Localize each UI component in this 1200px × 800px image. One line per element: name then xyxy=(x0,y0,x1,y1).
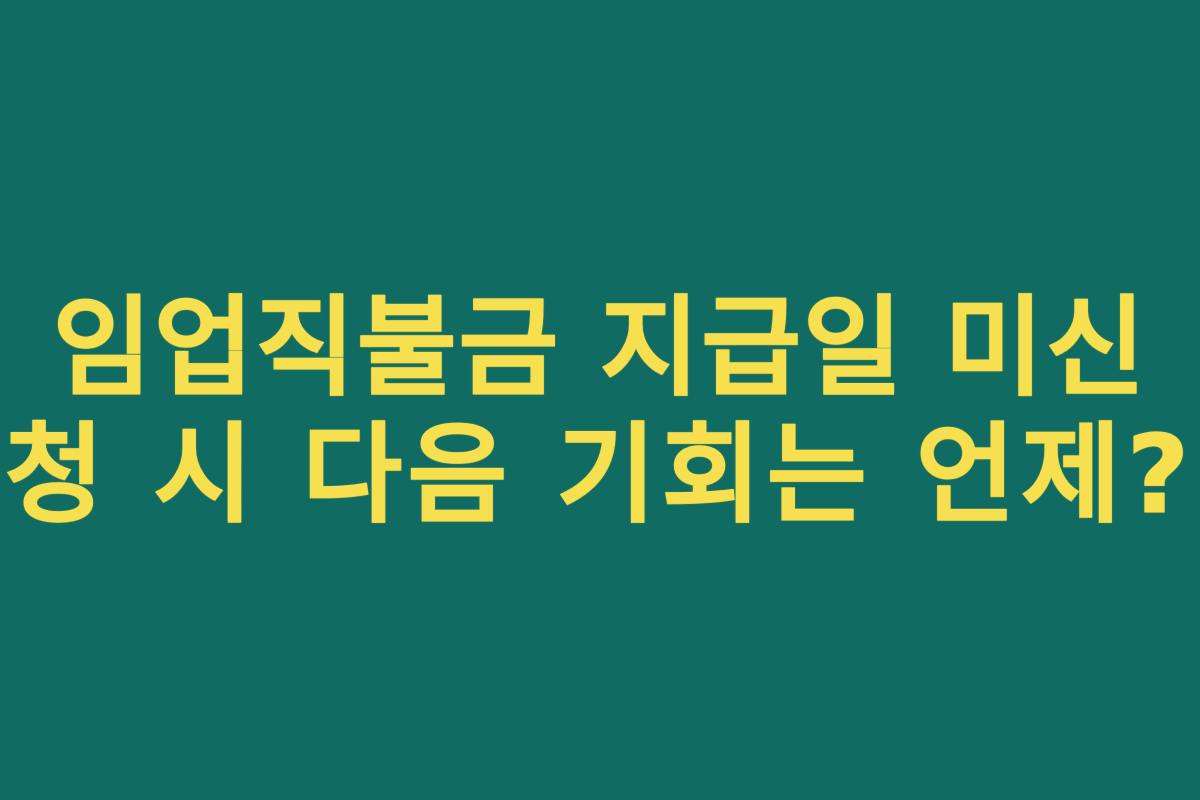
headline-line-2: 청 시 다음 기회는 언제? xyxy=(5,412,1195,539)
headline-line-1: 임업직불금 지급일 미신 xyxy=(53,285,1148,412)
text-banner-card: 임업직불금 지급일 미신 청 시 다음 기회는 언제? xyxy=(0,0,1200,800)
headline-block: 임업직불금 지급일 미신 청 시 다음 기회는 언제? xyxy=(0,0,1200,800)
